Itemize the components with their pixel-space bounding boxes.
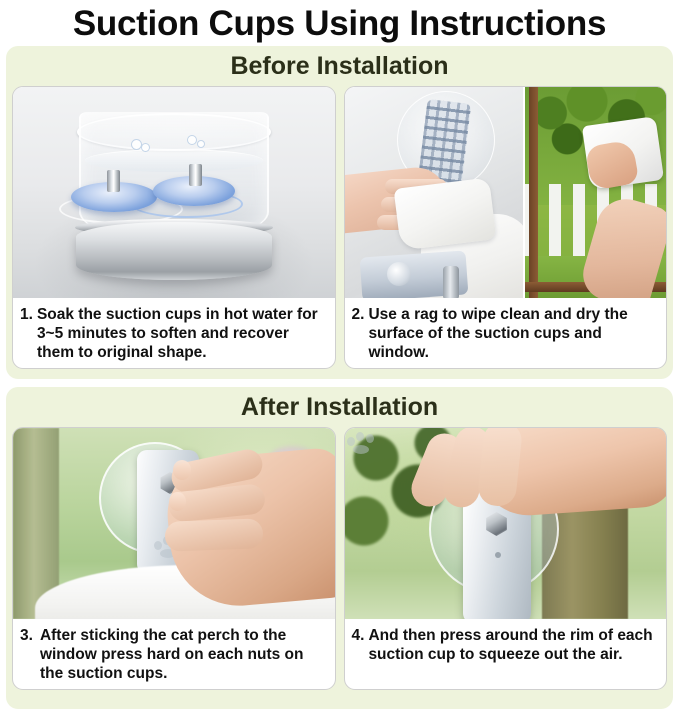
step-card-row-after: 3. After sticking the cat perch to the w… <box>12 427 667 690</box>
section-header-after: After Installation <box>12 391 667 423</box>
step-4-caption: 4. And then press around the rim of each… <box>345 619 667 689</box>
bubble-icon <box>197 140 205 148</box>
window-frame-icon <box>529 87 538 298</box>
bubble-icon <box>141 143 150 152</box>
fingernail-icon <box>173 460 191 480</box>
step-4-text: And then press around the rim of each su… <box>368 626 660 683</box>
step-card-1: 1. Soak the suction cups in hot water fo… <box>12 86 336 369</box>
step-2-photo-right-wiping-window <box>525 87 666 298</box>
cleaning-cloth-icon <box>393 177 496 250</box>
instruction-sheet: Suction Cups Using Instructions Before I… <box>0 0 679 718</box>
fingernail-icon <box>169 492 186 511</box>
metal-base-icon <box>76 222 272 280</box>
page-title: Suction Cups Using Instructions <box>0 0 679 46</box>
metal-bolt-icon <box>189 164 202 186</box>
step-2-number: 2. <box>352 305 369 362</box>
step-1-photo-bowl-soaking <box>13 87 335 298</box>
step-3-photo-press-nut <box>13 428 335 619</box>
screw-hole-icon <box>495 552 501 558</box>
step-4-photo-press-rim <box>345 428 667 619</box>
step-4-number: 4. <box>352 626 369 683</box>
metal-clip-icon <box>443 266 459 298</box>
finger-icon <box>165 518 264 551</box>
step-2-photo-wiping <box>345 87 667 298</box>
step-3-text: After sticking the cat perch to the wind… <box>40 626 329 683</box>
step-1-number: 1. <box>20 305 37 362</box>
step-card-row-before: 1. Soak the suction cups in hot water fo… <box>12 86 667 369</box>
step-2-text: Use a rag to wipe clean and dry the surf… <box>368 305 660 362</box>
step-1-text: Soak the suction cups in hot water for 3… <box>37 305 329 362</box>
step-3-caption: 3. After sticking the cat perch to the w… <box>13 619 335 689</box>
section-header-before: Before Installation <box>12 50 667 82</box>
metal-bolt-icon <box>107 170 120 192</box>
step-2-caption: 2. Use a rag to wipe clean and dry the s… <box>345 298 667 368</box>
step-2-photo-left-wiping-cup <box>345 87 525 298</box>
step-card-2: 2. Use a rag to wipe clean and dry the s… <box>344 86 668 369</box>
step-card-4: 4. And then press around the rim of each… <box>344 427 668 690</box>
mount-knob-icon <box>387 262 411 286</box>
section-before-installation: Before Installation <box>6 46 673 379</box>
step-1-caption: 1. Soak the suction cups in hot water fo… <box>13 298 335 368</box>
section-after-installation: After Installation <box>6 387 673 709</box>
step-3-number: 3. <box>20 626 40 683</box>
water-surface-icon <box>85 149 263 172</box>
bubble-icon <box>187 135 197 145</box>
step-card-3: 3. After sticking the cat perch to the w… <box>12 427 336 690</box>
